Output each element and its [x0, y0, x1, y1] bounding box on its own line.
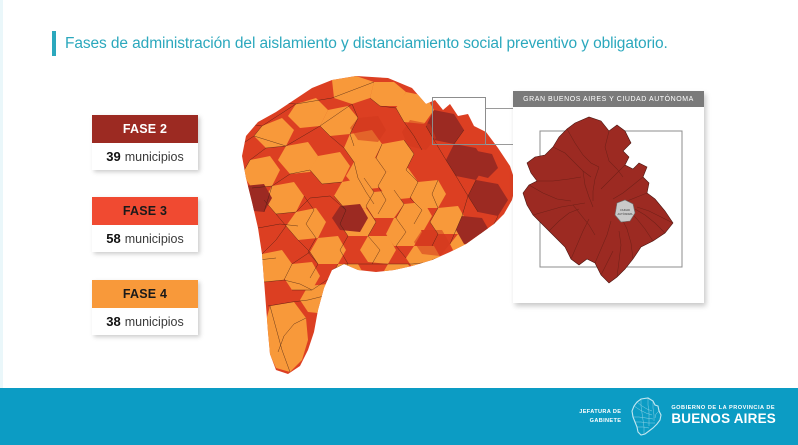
jefatura-line-1: JEFATURA DE	[579, 408, 621, 416]
legend-card-fase4[interactable]: FASE 4 38 municipios	[92, 280, 198, 335]
title-label: Fases de administración del aislamiento …	[65, 35, 668, 53]
legend-phase-label: FASE 3	[92, 197, 198, 225]
legend-unit: municipios	[125, 232, 184, 246]
gobierno-line-2: BUENOS AIRES	[671, 412, 776, 426]
gba-callout-box	[432, 97, 486, 145]
inset-header-label: GRAN BUENOS AIRES Y CIUDAD AUTÓNOMA	[523, 96, 694, 103]
gba-inset-panel[interactable]: GRAN BUENOS AIRES Y CIUDAD AUTÓNOMA	[513, 91, 704, 303]
legend-card-fase2[interactable]: FASE 2 39 municipios	[92, 115, 198, 170]
legend-unit: municipios	[125, 150, 184, 164]
legend-count: 58	[106, 231, 120, 246]
jefatura-line-2: GABINETE	[579, 417, 621, 425]
page-title: Fases de administración del aislamiento …	[52, 31, 668, 56]
legend-count-row: 58 municipios	[92, 225, 198, 252]
legend-phase-label: FASE 4	[92, 280, 198, 308]
gba-inset-svg: CIUDAD AUTÓNOMA	[513, 107, 704, 303]
legend-count: 39	[106, 149, 120, 164]
footer-branding: JEFATURA DE GABINETE GOBIERN	[579, 388, 776, 445]
left-edge-strip	[0, 0, 3, 389]
legend-card-fase3[interactable]: FASE 3 58 municipios	[92, 197, 198, 252]
legend-count: 38	[106, 314, 120, 329]
inset-regions: CIUDAD AUTÓNOMA	[523, 117, 673, 283]
gobierno-text: GOBIERNO DE LA PROVINCIA DE BUENOS AIRES	[671, 406, 776, 426]
legend-phase-label: FASE 2	[92, 115, 198, 143]
footer-bar: JEFATURA DE GABINETE GOBIERN	[0, 388, 798, 445]
legend-unit: municipios	[125, 315, 184, 329]
inset-header: GRAN BUENOS AIRES Y CIUDAD AUTÓNOMA	[513, 91, 704, 107]
callout-connector-top	[486, 108, 515, 109]
callout-connector-bottom	[486, 144, 515, 145]
legend-count-row: 39 municipios	[92, 143, 198, 170]
caba-label: CIUDAD	[620, 208, 630, 212]
title-accent-bar	[52, 31, 56, 56]
legend-count-row: 38 municipios	[92, 308, 198, 335]
slide-canvas: Fases de administración del aislamiento …	[0, 0, 798, 445]
jefatura-text: JEFATURA DE GABINETE	[579, 408, 621, 424]
province-outline-logo-icon	[628, 397, 664, 437]
inset-body: CIUDAD AUTÓNOMA	[513, 107, 704, 303]
